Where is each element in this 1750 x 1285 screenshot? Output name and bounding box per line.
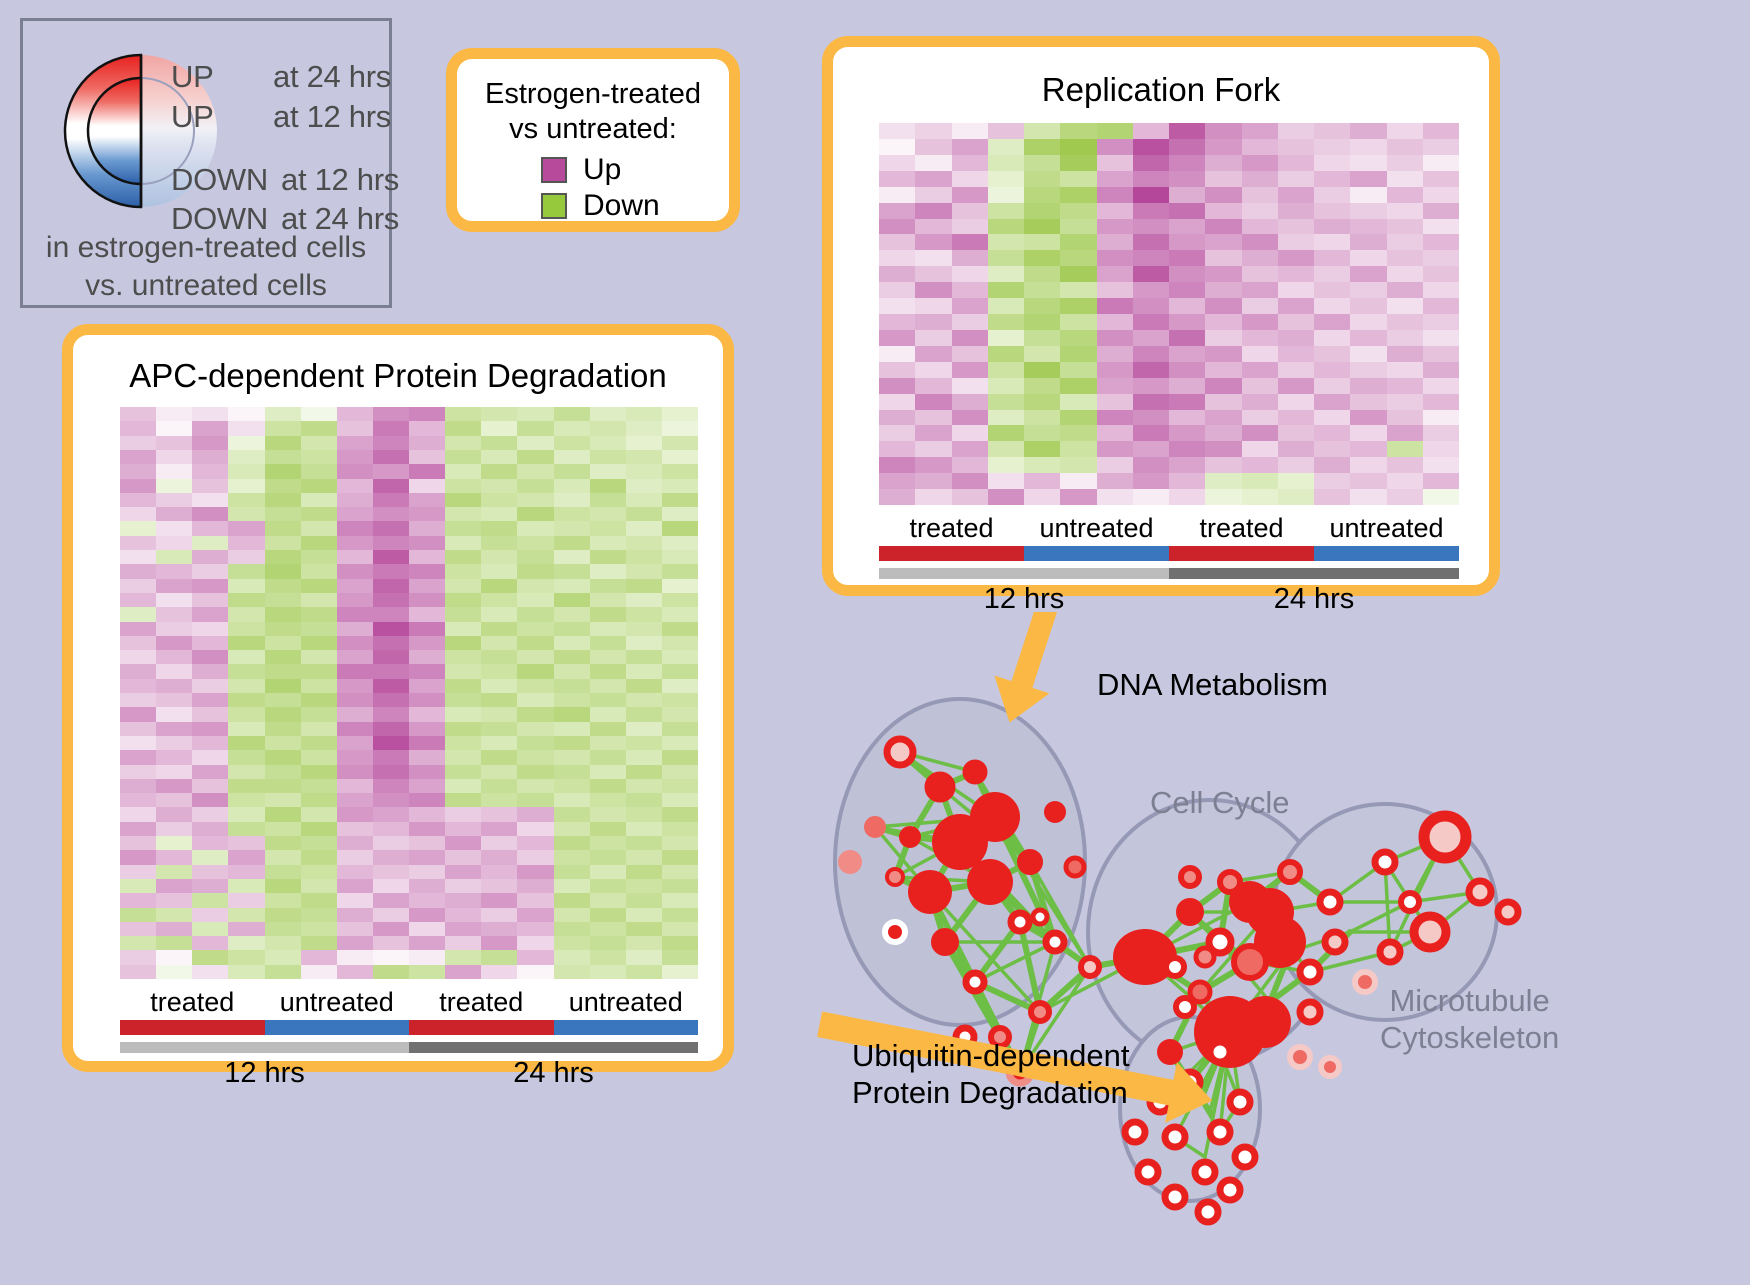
- key-direction-up12: UP: [171, 99, 213, 135]
- replication-fork-panel: Replication Fork treateduntreatedtreated…: [822, 36, 1500, 596]
- condition-label: treated: [409, 987, 554, 1018]
- condition-label: untreated: [1024, 513, 1169, 544]
- condition-color-bar: [120, 1020, 698, 1035]
- timepoint-bar-segment: [1169, 568, 1459, 579]
- condition-bar-segment: [879, 546, 1024, 561]
- apc-title: APC-dependent Protein Degradation: [73, 357, 723, 395]
- replication-fork-heatmap: [879, 123, 1459, 505]
- legend-title: Estrogen-treated vs untreated:: [457, 77, 729, 148]
- key-direction-down12: DOWN: [171, 162, 268, 198]
- legend-label-down: Down: [583, 189, 660, 223]
- condition-labels: treateduntreatedtreateduntreated: [879, 513, 1459, 544]
- key-time-up12: at 12 hrs: [273, 99, 391, 135]
- condition-label: treated: [879, 513, 1024, 544]
- legend-label-up: Up: [583, 153, 621, 187]
- condition-bar-segment: [265, 1020, 410, 1035]
- apc-degradation-panel: APC-dependent Protein Degradation treate…: [62, 324, 734, 1072]
- cluster-label-ubiquitin-degradation: Ubiquitin-dependent Protein Degradation: [852, 1037, 1130, 1111]
- key-time-up24: at 24 hrs: [273, 59, 391, 95]
- cluster-label-dna-metabolism: DNA Metabolism: [1097, 666, 1328, 703]
- timepoint-bar-segment: [120, 1042, 409, 1053]
- updown-color-legend-panel: Estrogen-treated vs untreated: Up Down: [446, 48, 740, 232]
- legend-swatch-up-icon: [541, 157, 567, 183]
- key-time-down12: at 12 hrs: [281, 162, 399, 198]
- legend-title-line2: vs untreated:: [457, 112, 729, 147]
- pathway-network-diagram: DNA Metabolism Cell Cycle Microtubule Cy…: [790, 612, 1580, 1280]
- timepoint-label: 12 hrs: [120, 1057, 409, 1090]
- timepoint-bar-segment: [409, 1042, 698, 1053]
- condition-color-bar: [879, 546, 1459, 561]
- legend-title-line1: Estrogen-treated: [457, 77, 729, 112]
- cluster-label-cell-cycle: Cell Cycle: [1150, 784, 1290, 821]
- network-svg: [790, 612, 1580, 1280]
- condition-label: untreated: [265, 987, 410, 1018]
- condition-bar-segment: [1169, 546, 1314, 561]
- apc-sample-strip: treateduntreatedtreateduntreated12 hrs24…: [120, 987, 698, 1090]
- legend-item-down: Down: [541, 189, 660, 223]
- condition-label: treated: [1169, 513, 1314, 544]
- timepoint-color-bar: [120, 1042, 698, 1053]
- key-footer: in estrogen-treated cells vs. untreated …: [23, 229, 389, 304]
- condition-label: treated: [120, 987, 265, 1018]
- condition-label: untreated: [554, 987, 699, 1018]
- condition-bar-segment: [409, 1020, 554, 1035]
- legend-item-up: Up: [541, 153, 621, 187]
- replication-fork-sample-strip: treateduntreatedtreateduntreated12 hrs24…: [879, 513, 1459, 616]
- replication-fork-title: Replication Fork: [833, 71, 1489, 109]
- cluster-label-microtubule-cytoskeleton: Microtubule Cytoskeleton: [1380, 982, 1559, 1056]
- condition-bar-segment: [554, 1020, 699, 1035]
- condition-bar-segment: [1024, 546, 1169, 561]
- timepoint-color-bar: [879, 568, 1459, 579]
- key-footer-line2: vs. untreated cells: [23, 267, 389, 305]
- condition-bar-segment: [120, 1020, 265, 1035]
- legend-swatch-down-icon: [541, 193, 567, 219]
- apc-heatmap: [120, 407, 698, 979]
- timepoint-label: 24 hrs: [409, 1057, 698, 1090]
- key-footer-line1: in estrogen-treated cells: [23, 229, 389, 267]
- key-direction-up24: UP: [171, 59, 213, 95]
- timepoint-bar-segment: [879, 568, 1169, 579]
- expression-key-box: UP at 24 hrs UP at 12 hrs DOWN at 12 hrs…: [20, 18, 392, 308]
- timepoint-labels: 12 hrs24 hrs: [120, 1057, 698, 1090]
- condition-label: untreated: [1314, 513, 1459, 544]
- condition-bar-segment: [1314, 546, 1459, 561]
- condition-labels: treateduntreatedtreateduntreated: [120, 987, 698, 1018]
